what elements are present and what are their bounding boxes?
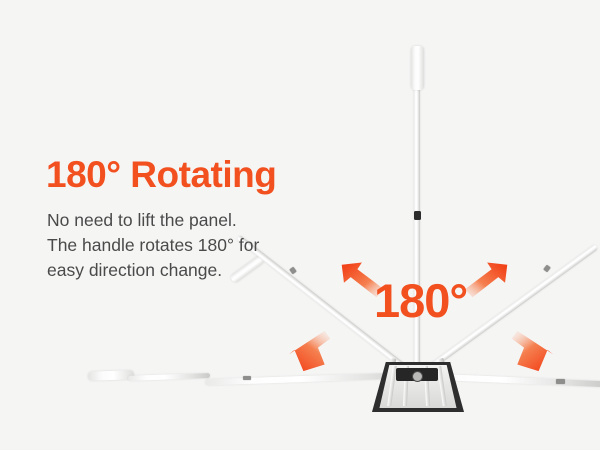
rotation-angle-badge: 180° — [374, 277, 467, 324]
pole-collar-right — [556, 379, 565, 384]
page-title: 180° Rotating — [46, 156, 276, 193]
description-text: No need to lift the panel. The handle ro… — [47, 208, 259, 283]
description-line-2: The handle rotates 180° for — [47, 233, 259, 258]
pole-collar-left — [243, 376, 251, 380]
pole-grip-left — [88, 370, 134, 381]
pole-collar-upper-right — [543, 265, 551, 273]
arrow-down-right — [505, 323, 561, 379]
pole-grip-top — [411, 46, 424, 90]
arrow-down-left — [281, 323, 337, 379]
description-line-3: easy direction change. — [47, 258, 259, 283]
pole-lock-clip — [414, 211, 421, 220]
pole-horizontal-left-outer — [128, 373, 210, 381]
pole-vertical-center — [414, 78, 420, 378]
pivot-bolt — [412, 371, 423, 382]
pole-collar-upper-left — [289, 267, 297, 275]
promo-image: 180° Rotating No need to lift the panel.… — [0, 0, 600, 450]
description-line-1: No need to lift the panel. — [47, 208, 259, 233]
